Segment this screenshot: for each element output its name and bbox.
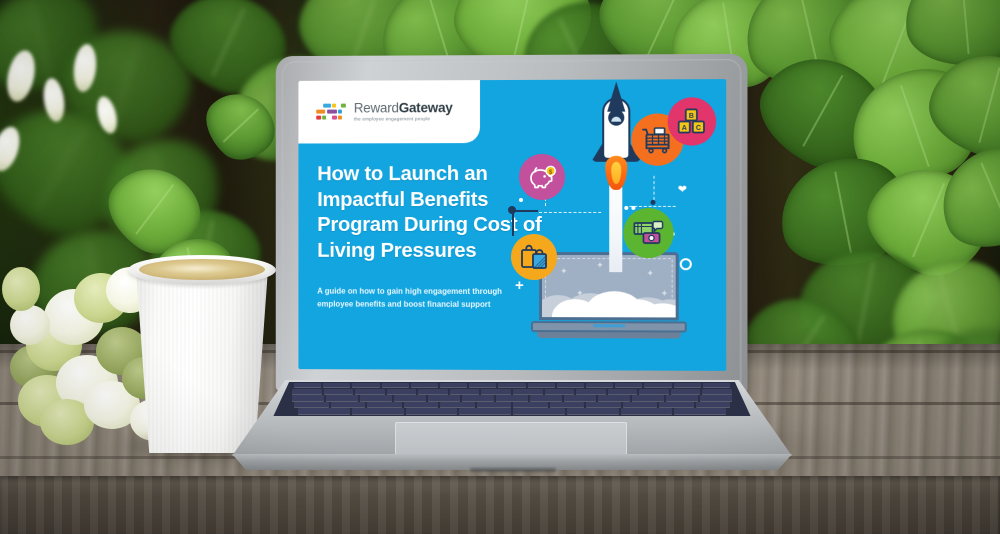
keyboard-key[interactable] xyxy=(621,408,673,414)
keyboard-key[interactable] xyxy=(440,383,467,387)
logo-wordmark: RewardGateway the employee engagement pe… xyxy=(354,102,453,122)
keyboard-key[interactable] xyxy=(367,402,402,408)
money-card-glyph xyxy=(632,219,664,247)
keyboard-key[interactable] xyxy=(564,395,596,401)
keyboard-key[interactable] xyxy=(576,389,606,395)
keyboard-key[interactable] xyxy=(496,395,528,401)
logo-word-reward: Reward xyxy=(354,101,399,116)
keyboard-key[interactable] xyxy=(324,389,354,395)
dot-decoration xyxy=(650,200,655,205)
photo-scene: RewardGateway the employee engagement pe… xyxy=(0,0,1000,534)
laptop-base xyxy=(232,380,792,480)
star-decoration: ✦ xyxy=(661,289,669,298)
keyboard-key[interactable] xyxy=(382,383,409,387)
keyboard-key[interactable] xyxy=(418,389,448,395)
rocket-nose-cone xyxy=(607,82,625,112)
laptop-base-gap xyxy=(470,468,556,472)
piggy-bank-icon: $ xyxy=(519,154,565,200)
keyboard-key[interactable] xyxy=(586,402,621,408)
keyboard-key[interactable] xyxy=(545,389,575,395)
dot-decoration xyxy=(624,206,628,210)
keyboard-key[interactable] xyxy=(394,395,426,401)
keyboard-key[interactable] xyxy=(567,408,619,414)
keyboard-key[interactable] xyxy=(586,383,613,387)
keyboard-key[interactable] xyxy=(632,395,664,401)
keyboard-key[interactable] xyxy=(298,408,350,414)
keyboard-key[interactable] xyxy=(440,402,475,408)
keyboard-key[interactable] xyxy=(387,389,417,395)
illustrated-laptop-foot xyxy=(537,332,681,338)
keyboard-key[interactable] xyxy=(639,389,669,395)
connector-dot xyxy=(508,206,516,214)
rocket-illustration: ❤ + xyxy=(507,79,726,371)
logo-tagline: the employee engagement people xyxy=(354,117,453,122)
keyboard-key[interactable] xyxy=(513,408,565,414)
keyboard-key[interactable] xyxy=(326,395,358,401)
keyboard-key[interactable] xyxy=(528,383,555,387)
laptop-keyboard[interactable] xyxy=(232,382,792,416)
keyboard-key[interactable] xyxy=(700,395,732,401)
keyboard-key[interactable] xyxy=(411,383,438,387)
shopping-bag-icon xyxy=(511,234,557,280)
keyboard-key[interactable] xyxy=(355,389,385,395)
keyboard-key[interactable] xyxy=(428,395,460,401)
keyboard-key[interactable] xyxy=(513,402,548,408)
laptop-screen[interactable]: RewardGateway the employee engagement pe… xyxy=(298,79,726,371)
keyboard-key[interactable] xyxy=(557,383,584,387)
shopping-bag-glyph xyxy=(520,244,548,270)
keyboard-key[interactable] xyxy=(666,395,698,401)
rocket-window xyxy=(608,110,624,126)
brand-logo: RewardGateway the employee engagement pe… xyxy=(298,80,480,143)
star-decoration: ✦ xyxy=(596,261,604,270)
keyboard-key[interactable] xyxy=(360,395,392,401)
plus-decoration: + xyxy=(515,278,524,293)
star-decoration: ✦ xyxy=(560,267,568,276)
keyboard-key[interactable] xyxy=(608,389,638,395)
keyboard-key[interactable] xyxy=(703,383,730,387)
keyboard-key[interactable] xyxy=(615,383,642,387)
keyboard-key[interactable] xyxy=(550,402,585,408)
cover-subline: A guide on how to gain high engagement t… xyxy=(317,286,531,312)
dashed-line xyxy=(539,212,601,213)
keyboard-key[interactable] xyxy=(674,383,701,387)
laptop-lid: RewardGateway the employee engagement pe… xyxy=(282,59,742,391)
keyboard-key[interactable] xyxy=(292,395,324,401)
abc-blocks-glyph: B A C xyxy=(677,107,707,135)
keyboard-key[interactable] xyxy=(323,383,350,387)
keyboard-key[interactable] xyxy=(530,395,562,401)
keyboard-key[interactable] xyxy=(644,383,671,387)
keyboard-key[interactable] xyxy=(462,395,494,401)
keyboard-key[interactable] xyxy=(469,383,496,387)
keyboard-key[interactable] xyxy=(294,383,321,387)
piggy-bank-glyph: $ xyxy=(528,165,556,189)
keyboard-key[interactable] xyxy=(498,383,525,387)
dot-decoration xyxy=(631,206,635,210)
keyboard-key[interactable] xyxy=(477,402,512,408)
keyboard-key[interactable] xyxy=(696,402,731,408)
keyboard-key[interactable] xyxy=(598,395,630,401)
keyboard-key[interactable] xyxy=(352,408,404,414)
keyboard-key[interactable] xyxy=(481,389,511,395)
keyboard-key[interactable] xyxy=(659,402,694,408)
star-decoration: ✦ xyxy=(646,269,654,278)
laptop[interactable]: RewardGateway the employee engagement pe… xyxy=(232,60,792,480)
keyboard-key[interactable] xyxy=(294,402,329,408)
keyboard-key[interactable] xyxy=(331,402,366,408)
heart-icon: ❤ xyxy=(678,185,687,196)
dot-decoration xyxy=(519,198,523,202)
svg-text:B: B xyxy=(689,113,694,120)
svg-text:A: A xyxy=(682,125,687,132)
keyboard-key[interactable] xyxy=(674,408,726,414)
keyboard-key[interactable] xyxy=(702,389,732,395)
keyboard-key[interactable] xyxy=(513,389,543,395)
keyboard-key[interactable] xyxy=(404,402,439,408)
keyboard-key[interactable] xyxy=(623,402,658,408)
abc-blocks-icon: B A C xyxy=(668,97,716,145)
reward-gateway-logo-mark xyxy=(316,102,347,123)
keyboard-key[interactable] xyxy=(459,408,511,414)
dashed-line xyxy=(629,206,675,207)
laptop-trackpad[interactable] xyxy=(395,422,627,455)
table-front-edge xyxy=(0,476,1000,534)
keyboard-key[interactable] xyxy=(671,389,701,395)
keyboard-key[interactable] xyxy=(352,383,379,387)
rocket-flame xyxy=(605,156,627,190)
keyboard-key[interactable] xyxy=(292,389,322,395)
svg-text:C: C xyxy=(696,125,701,132)
keyboard-key[interactable] xyxy=(450,389,480,395)
money-card-icon xyxy=(623,208,673,258)
dashed-line xyxy=(654,176,655,200)
logo-word-gateway: Gateway xyxy=(399,101,453,116)
illustrated-laptop-notch xyxy=(593,324,625,327)
keyboard-key[interactable] xyxy=(406,408,458,414)
